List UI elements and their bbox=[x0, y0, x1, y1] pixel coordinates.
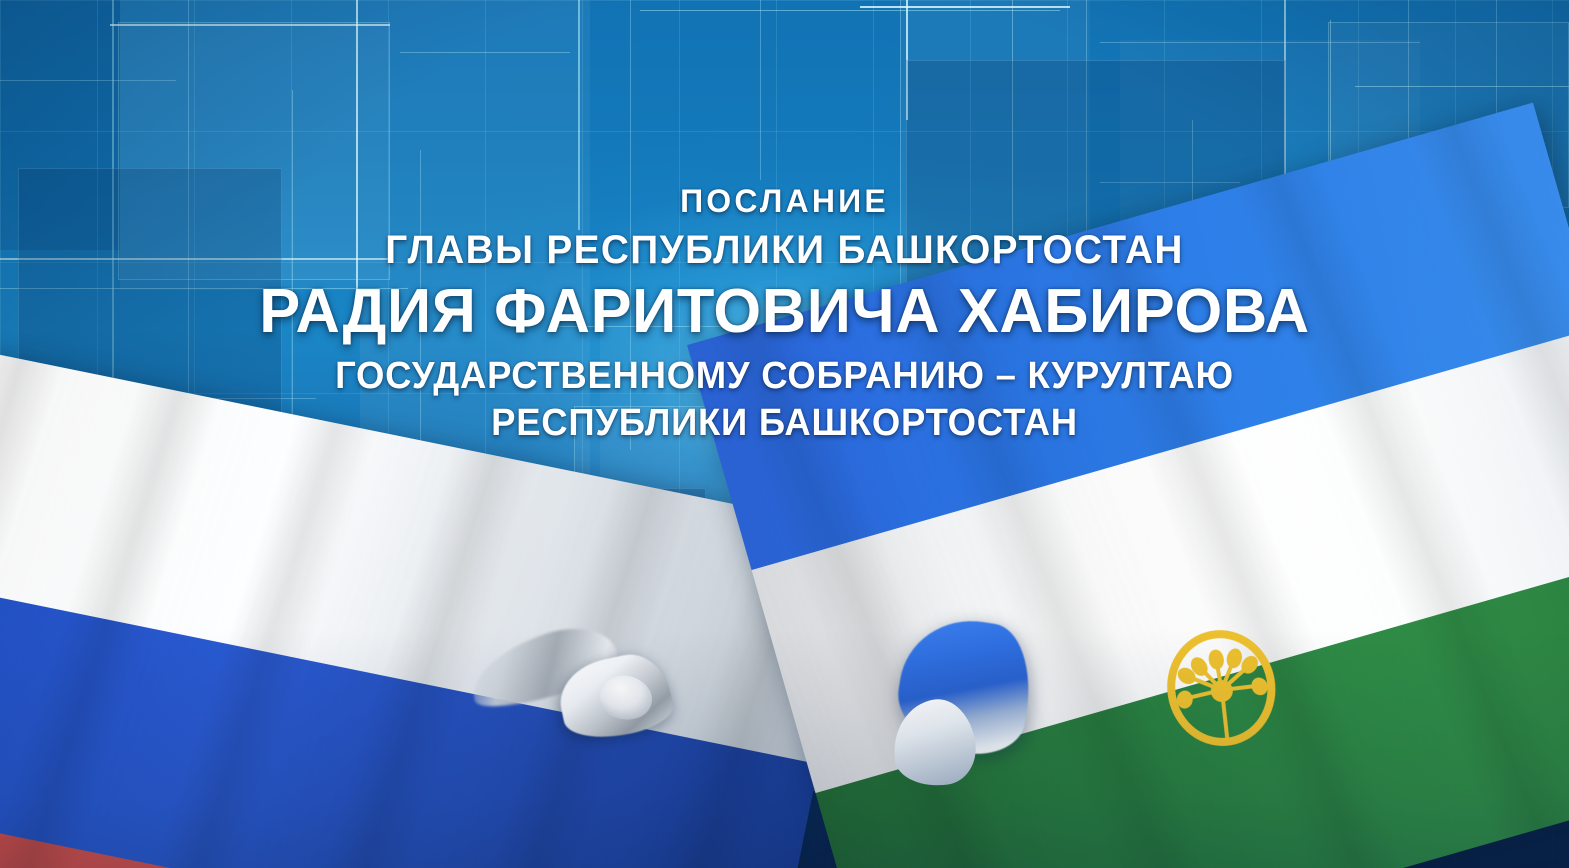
title-card-scene: ПОСЛАНИЕ ГЛАВЫ РЕСПУБЛИКИ БАШКОРТОСТАН Р… bbox=[0, 0, 1569, 868]
title-line-2: ГЛАВЫ РЕСПУБЛИКИ БАШКОРТОСТАН bbox=[24, 230, 1546, 270]
title-line-3-name: РАДИЯ ФАРИТОВИЧА ХАБИРОВА bbox=[8, 281, 1561, 343]
kurai-flower-emblem bbox=[1153, 619, 1291, 766]
title-line-4: ГОСУДАРСТВЕННОМУ СОБРАНИЮ – КУРУЛТАЮ bbox=[31, 357, 1537, 395]
title-block: ПОСЛАНИЕ ГЛАВЫ РЕСПУБЛИКИ БАШКОРТОСТАН Р… bbox=[0, 185, 1569, 442]
title-line-5: РЕСПУБЛИКИ БАШКОРТОСТАН bbox=[31, 404, 1537, 442]
title-line-1: ПОСЛАНИЕ bbox=[0, 185, 1569, 217]
